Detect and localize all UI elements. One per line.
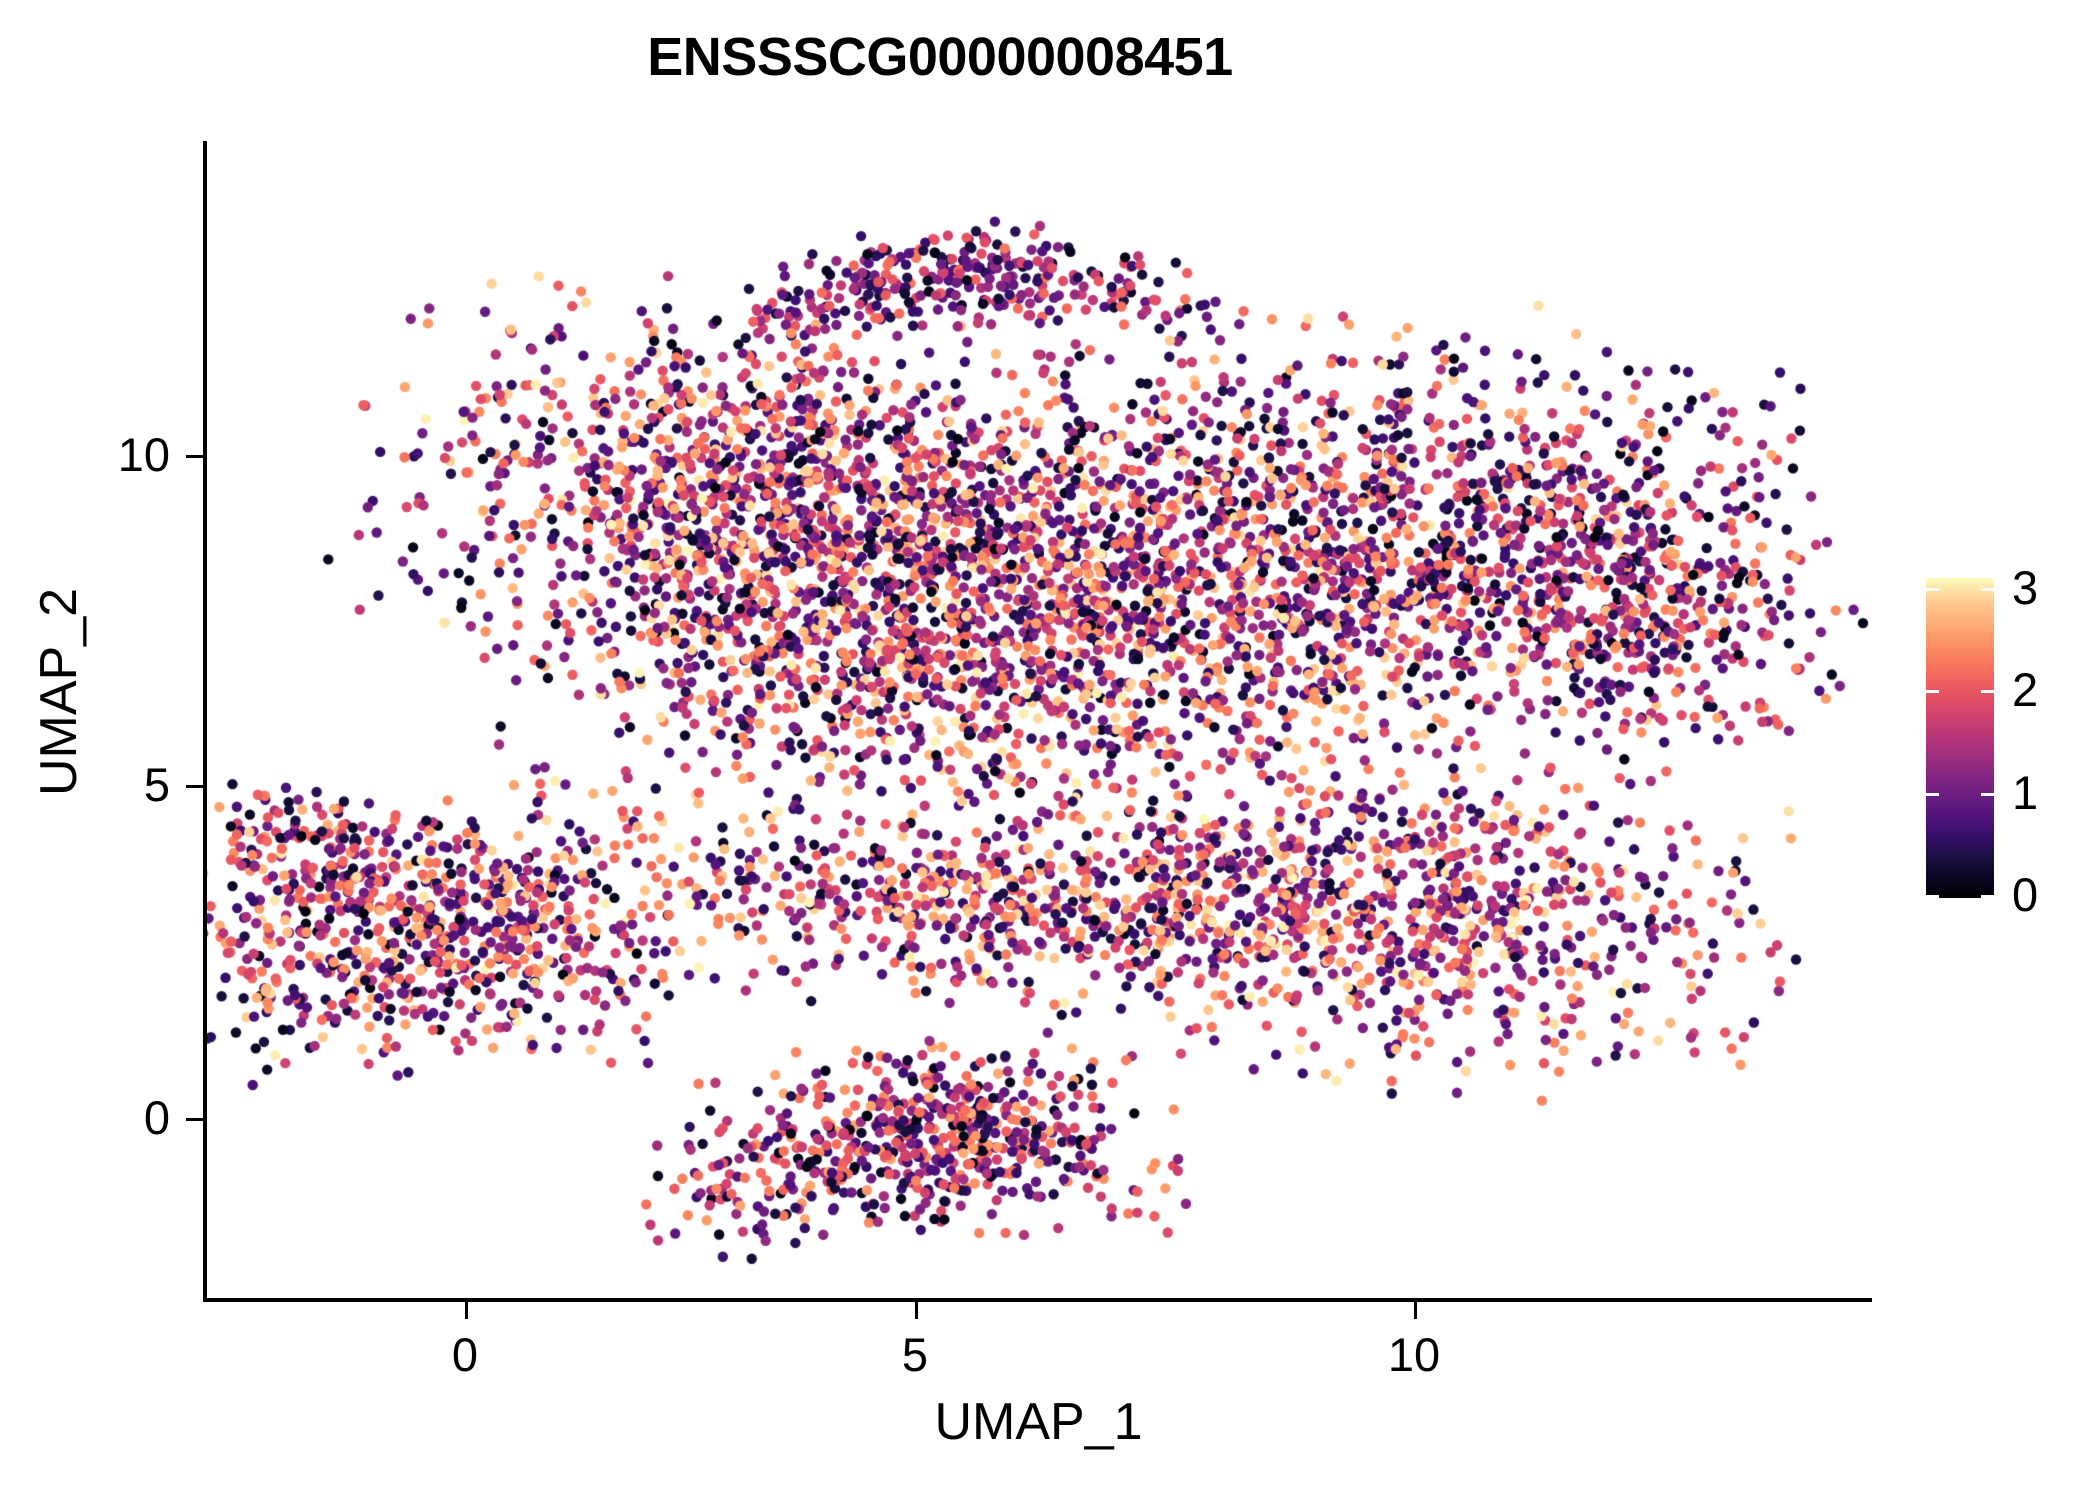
colorbar-gradient (1926, 578, 1994, 898)
colorbar-tick-0-left (1926, 895, 1939, 898)
colorbar-tick-3-right (1981, 588, 1994, 591)
y-axis-line (203, 141, 207, 1302)
y-tick-mark-10 (186, 455, 203, 458)
y-tick-mark-5 (186, 785, 203, 788)
page-title: ENSSSCG00000008451 (0, 26, 1880, 88)
colorbar-legend: 3 2 1 0 (1926, 578, 2076, 898)
y-tick-mark-0 (186, 1118, 203, 1121)
x-tick-mark-10 (1414, 1302, 1417, 1319)
colorbar-tick-1-right (1981, 793, 1994, 796)
scatter-points-canvas (205, 141, 1872, 1300)
colorbar-tick-2-left (1926, 690, 1939, 693)
x-axis-line (205, 1298, 1872, 1302)
colorbar-tick-1-left (1926, 793, 1939, 796)
x-tick-mark-5 (915, 1302, 918, 1319)
colorbar-label-0: 0 (2012, 871, 2038, 918)
x-tick-mark-0 (465, 1302, 468, 1319)
plot-panel (205, 141, 1872, 1300)
x-axis-title: UMAP_1 (205, 1392, 1872, 1452)
colorbar-label-2: 2 (2012, 666, 2038, 713)
y-tick-label-0: 0 (0, 1094, 170, 1141)
x-tick-label-0: 0 (365, 1331, 565, 1378)
colorbar-tick-0-right (1981, 895, 1994, 898)
colorbar-label-1: 1 (2012, 769, 2038, 816)
colorbar-label-3: 3 (2012, 564, 2038, 611)
x-tick-label-10: 10 (1314, 1331, 1514, 1378)
colorbar-tick-2-right (1981, 690, 1994, 693)
umap-feature-plot: ENSSSCG00000008451 10 5 0 0 5 10 UMAP_1 … (0, 0, 2100, 1500)
colorbar-tick-3-left (1926, 588, 1939, 591)
y-axis-title: UMAP_2 (29, 342, 89, 1042)
x-tick-label-5: 5 (815, 1331, 1015, 1378)
